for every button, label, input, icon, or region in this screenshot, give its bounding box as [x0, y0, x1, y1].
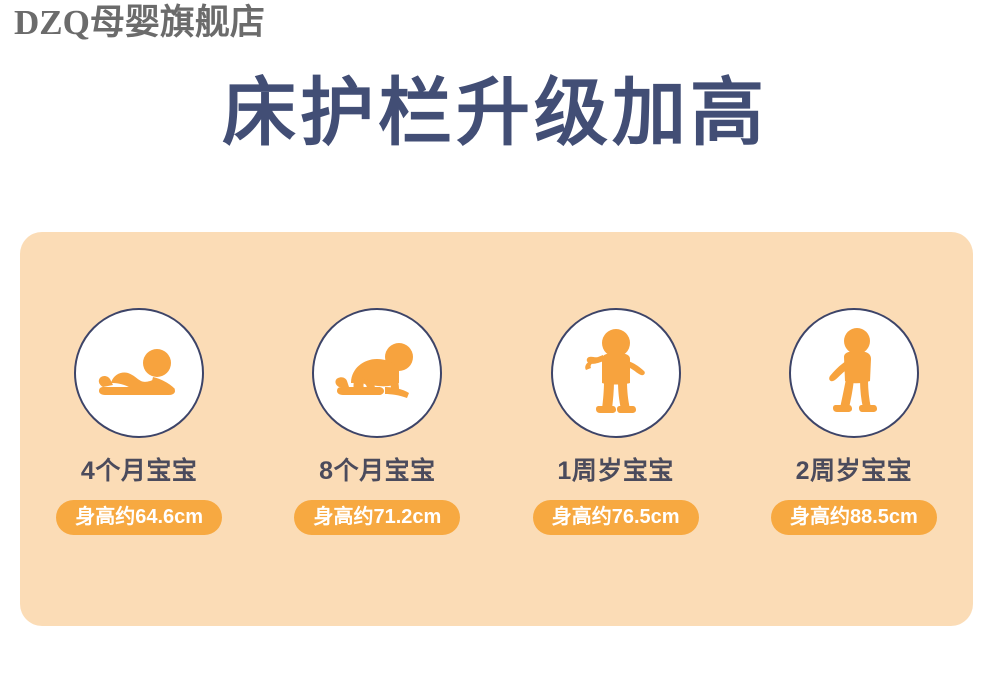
page-title: 床护栏升级加高 [0, 76, 990, 150]
age-card-label: 2周岁宝宝 [796, 459, 912, 484]
baby-crawling-icon [325, 321, 429, 425]
age-card-height-badge: 身高约64.6cm [56, 500, 222, 535]
age-card: 8个月宝宝 身高约71.2cm [272, 308, 482, 535]
age-card-height-badge: 身高约71.2cm [294, 500, 460, 535]
age-card-label: 1周岁宝宝 [557, 459, 673, 484]
age-comparison-panel: 4个月宝宝 身高约64.6cm [20, 232, 973, 626]
age-icon-circle [789, 308, 919, 438]
toddler-standing-icon [564, 321, 668, 425]
age-card: 2周岁宝宝 身高约88.5cm [749, 308, 959, 535]
age-icon-circle [551, 308, 681, 438]
age-card-row: 4个月宝宝 身高约64.6cm [20, 232, 973, 626]
baby-lying-prone-icon [87, 321, 191, 425]
shop-brand-name: DZQ母婴旗舰店 [14, 2, 265, 44]
age-card-height-badge: 身高约76.5cm [533, 500, 699, 535]
age-card: 4个月宝宝 身高约64.6cm [34, 308, 244, 535]
age-card-height-badge: 身高约88.5cm [771, 500, 937, 535]
age-card-label: 4个月宝宝 [81, 459, 197, 484]
age-card: 1周岁宝宝 身高约76.5cm [511, 308, 721, 535]
age-card-label: 8个月宝宝 [319, 459, 435, 484]
age-icon-circle [74, 308, 204, 438]
age-icon-circle [312, 308, 442, 438]
toddler-walking-icon [802, 321, 906, 425]
